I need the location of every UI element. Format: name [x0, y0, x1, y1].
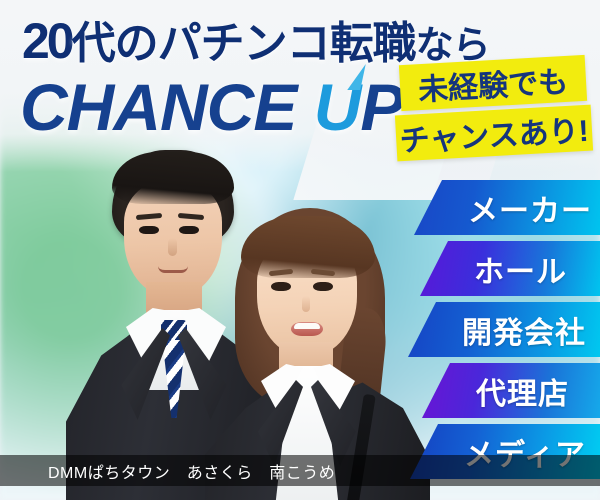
category-label-agency: 代理店 [476, 369, 569, 413]
category-label-development: 開発会社 [462, 308, 586, 352]
category-label-hall: ホール [474, 247, 567, 291]
credit-text: DMMぱちタウン あさくら 南こうめ [48, 459, 335, 483]
category-button-maker[interactable]: メーカー [414, 180, 600, 235]
category-button-agency[interactable]: 代理店 [422, 363, 600, 418]
category-label-maker: メーカー [468, 186, 592, 230]
category-button-development[interactable]: 開発会社 [408, 302, 600, 357]
credit-bar: DMMぱちタウン あさくら 南こうめ [0, 455, 600, 486]
category-button-list: メーカー ホール 開発会社 代理店 メディア [0, 0, 600, 500]
category-button-hall[interactable]: ホール [420, 241, 600, 296]
recruitment-banner[interactable]: 20代のパチンコ転職なら CHANCE UP 未経験でも チャンスあり! メーカ… [0, 0, 600, 500]
